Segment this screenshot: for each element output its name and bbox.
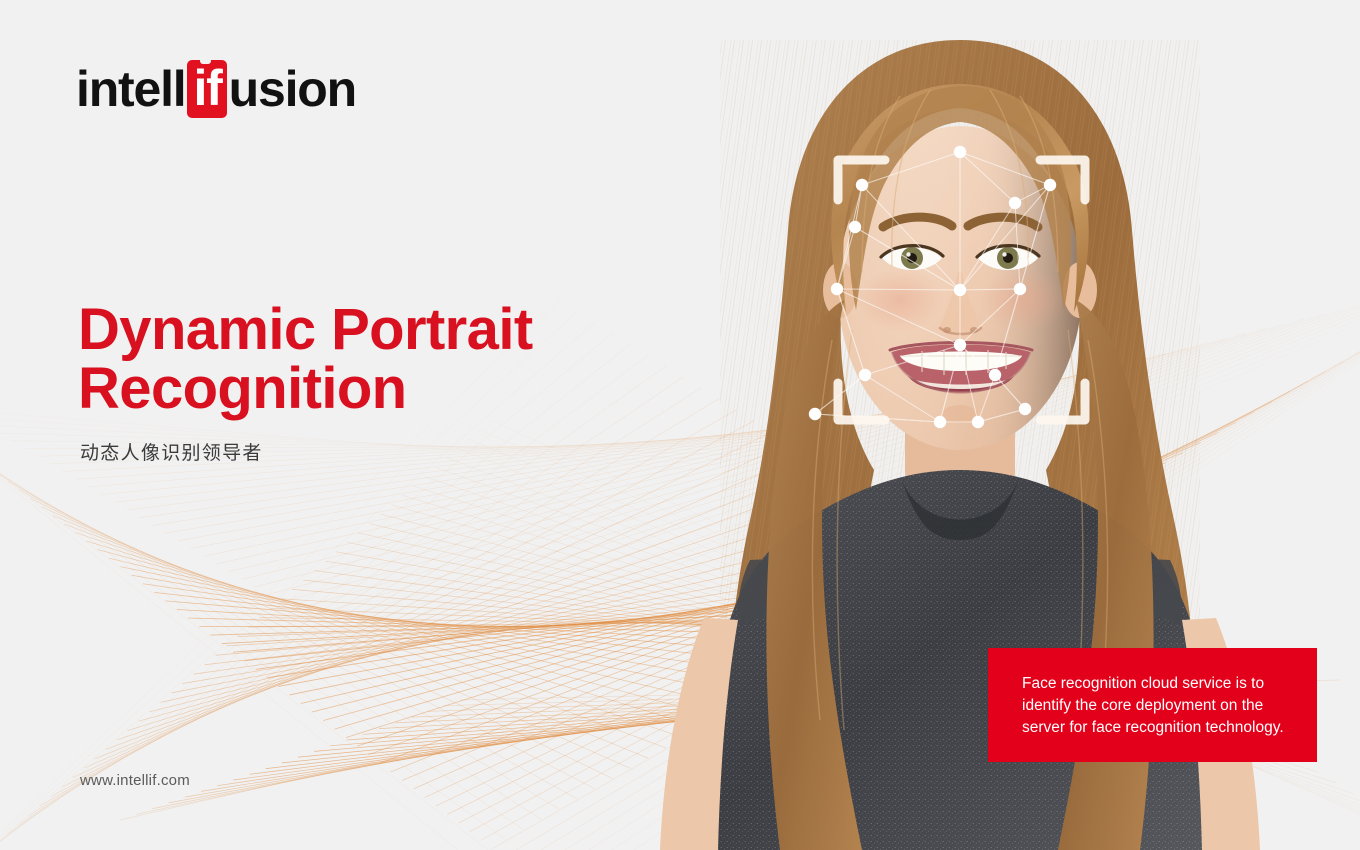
page-subtitle: 动态人像识别领导者: [80, 438, 263, 465]
site-url: www.intellif.com: [80, 772, 190, 789]
slide-canvas: intellifusion Dynamic Portrait Recogniti…: [0, 0, 1360, 850]
logo-if-tile: if: [187, 60, 226, 118]
mesh-landmark-dots: [809, 146, 1056, 428]
page-title: Dynamic Portrait Recognition: [78, 300, 533, 418]
logo-text-part1: intell: [76, 64, 185, 114]
bracket-bottom-right: [1040, 383, 1085, 420]
callout-box: Face recognition cloud service is to ide…: [988, 648, 1317, 762]
logo-text-part2: usion: [229, 64, 356, 114]
brand-logo[interactable]: intellifusion: [76, 60, 356, 118]
bracket-bottom-left: [838, 383, 885, 420]
callout-text: Face recognition cloud service is to ide…: [1022, 673, 1284, 739]
